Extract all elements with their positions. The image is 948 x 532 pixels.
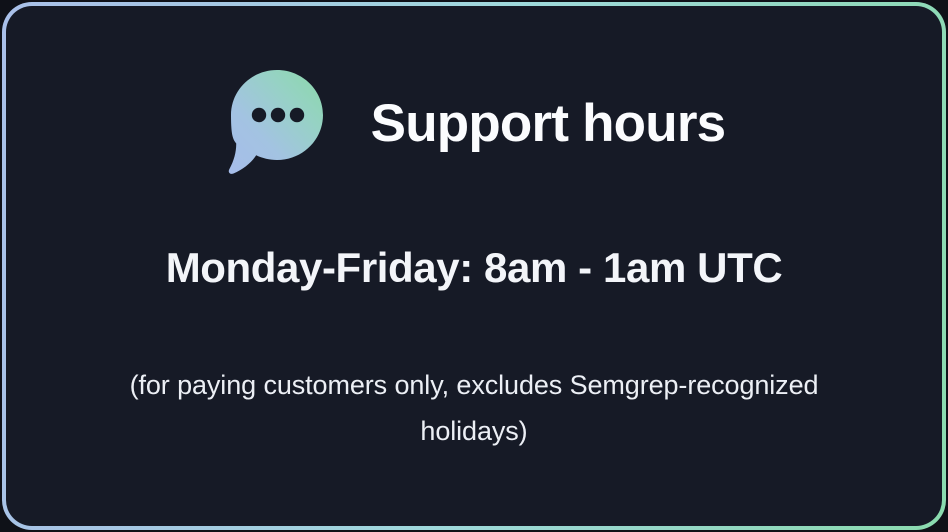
chat-bubble-dots-icon <box>223 68 327 178</box>
card-header: Support hours <box>6 68 942 178</box>
bubble-dot-1 <box>251 108 265 122</box>
support-hours-card: Support hours Monday-Friday: 8am - 1am U… <box>2 2 946 530</box>
card-body: Support hours Monday-Friday: 8am - 1am U… <box>6 6 942 526</box>
bubble-dot-2 <box>270 108 284 122</box>
page-title: Support hours <box>371 97 726 150</box>
bubble-dot-3 <box>289 108 303 122</box>
support-hours-value: Monday-Friday: 8am - 1am UTC <box>6 244 942 291</box>
support-hours-note: (for paying customers only, excludes Sem… <box>104 362 844 455</box>
